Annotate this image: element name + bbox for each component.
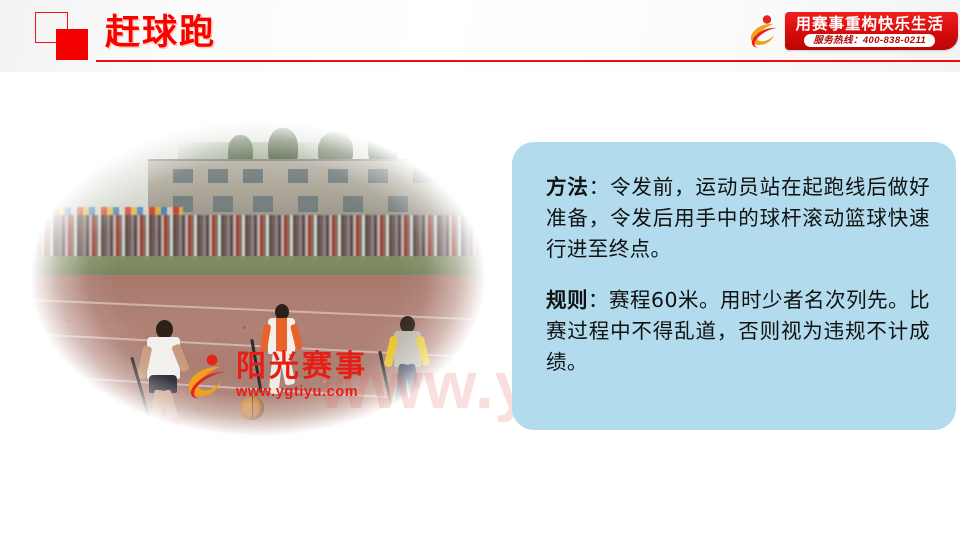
photo-window [388, 196, 408, 211]
photo-watermark: 阳光赛事 www.ygtiyu.com [182, 352, 368, 400]
running-figure-icon [743, 11, 783, 51]
brand-hotline: 服务热线：400-838-0211 [804, 34, 935, 47]
photo-window [328, 169, 348, 183]
method-separator: ： [589, 175, 610, 199]
slide: 赶球跑 用赛事重构快乐生活 服务热线：400-838-0211 [0, 0, 960, 540]
photo-window [253, 196, 273, 211]
photo-athlete [386, 316, 430, 422]
square-filled-icon [56, 29, 88, 60]
photo-window [173, 169, 193, 183]
photo-crowd [8, 215, 508, 259]
photo-window [288, 169, 308, 183]
photo-watermark-text: 阳光赛事 www.ygtiyu.com [236, 352, 368, 400]
slide-header: 赶球跑 用赛事重构快乐生活 服务热线：400-838-0211 [0, 0, 960, 72]
photo-watermark-url: www.ygtiyu.com [236, 385, 368, 400]
rules-separator: ： [588, 288, 609, 312]
sunshine-runner-icon [182, 352, 232, 400]
title-divider [96, 60, 960, 62]
photo-window [213, 196, 233, 211]
method-paragraph: 方法：令发前，运动员站在起跑线后做好准备，令发后用手中的球杆滚动篮球快速行进至终… [546, 172, 930, 265]
brand-plate: 用赛事重构快乐生活 服务热线：400-838-0211 [785, 12, 958, 50]
photo-basketball [366, 404, 392, 430]
athlete-leg [405, 363, 421, 399]
photo-window [208, 169, 228, 183]
rules-paragraph: 规则：赛程60米。用时少者名次列先。比赛过程中不得乱道，否则视为违规不计成绩。 [546, 285, 930, 378]
photo-window [343, 196, 363, 211]
rules-label: 规则 [546, 288, 588, 312]
photo-speck [68, 319, 71, 322]
method-label: 方法 [546, 175, 589, 199]
photo-window [298, 196, 318, 211]
athlete-shoe [396, 401, 409, 407]
athlete-shoe [168, 418, 181, 425]
photo-watermark-name: 阳光赛事 [236, 352, 368, 382]
brand-slogan: 用赛事重构快乐生活 [795, 15, 944, 33]
brand-badge: 用赛事重构快乐生活 服务热线：400-838-0211 [743, 8, 958, 54]
red-square-mark-icon [35, 12, 93, 60]
photo-window [413, 169, 433, 183]
photo-window [368, 169, 388, 183]
photo-window [243, 169, 263, 183]
info-panel: 方法：令发前，运动员站在起跑线后做好准备，令发后用手中的球杆滚动篮球快速行进至终… [512, 142, 956, 430]
page-title: 赶球跑 [105, 11, 216, 55]
photo-speck [243, 326, 246, 329]
